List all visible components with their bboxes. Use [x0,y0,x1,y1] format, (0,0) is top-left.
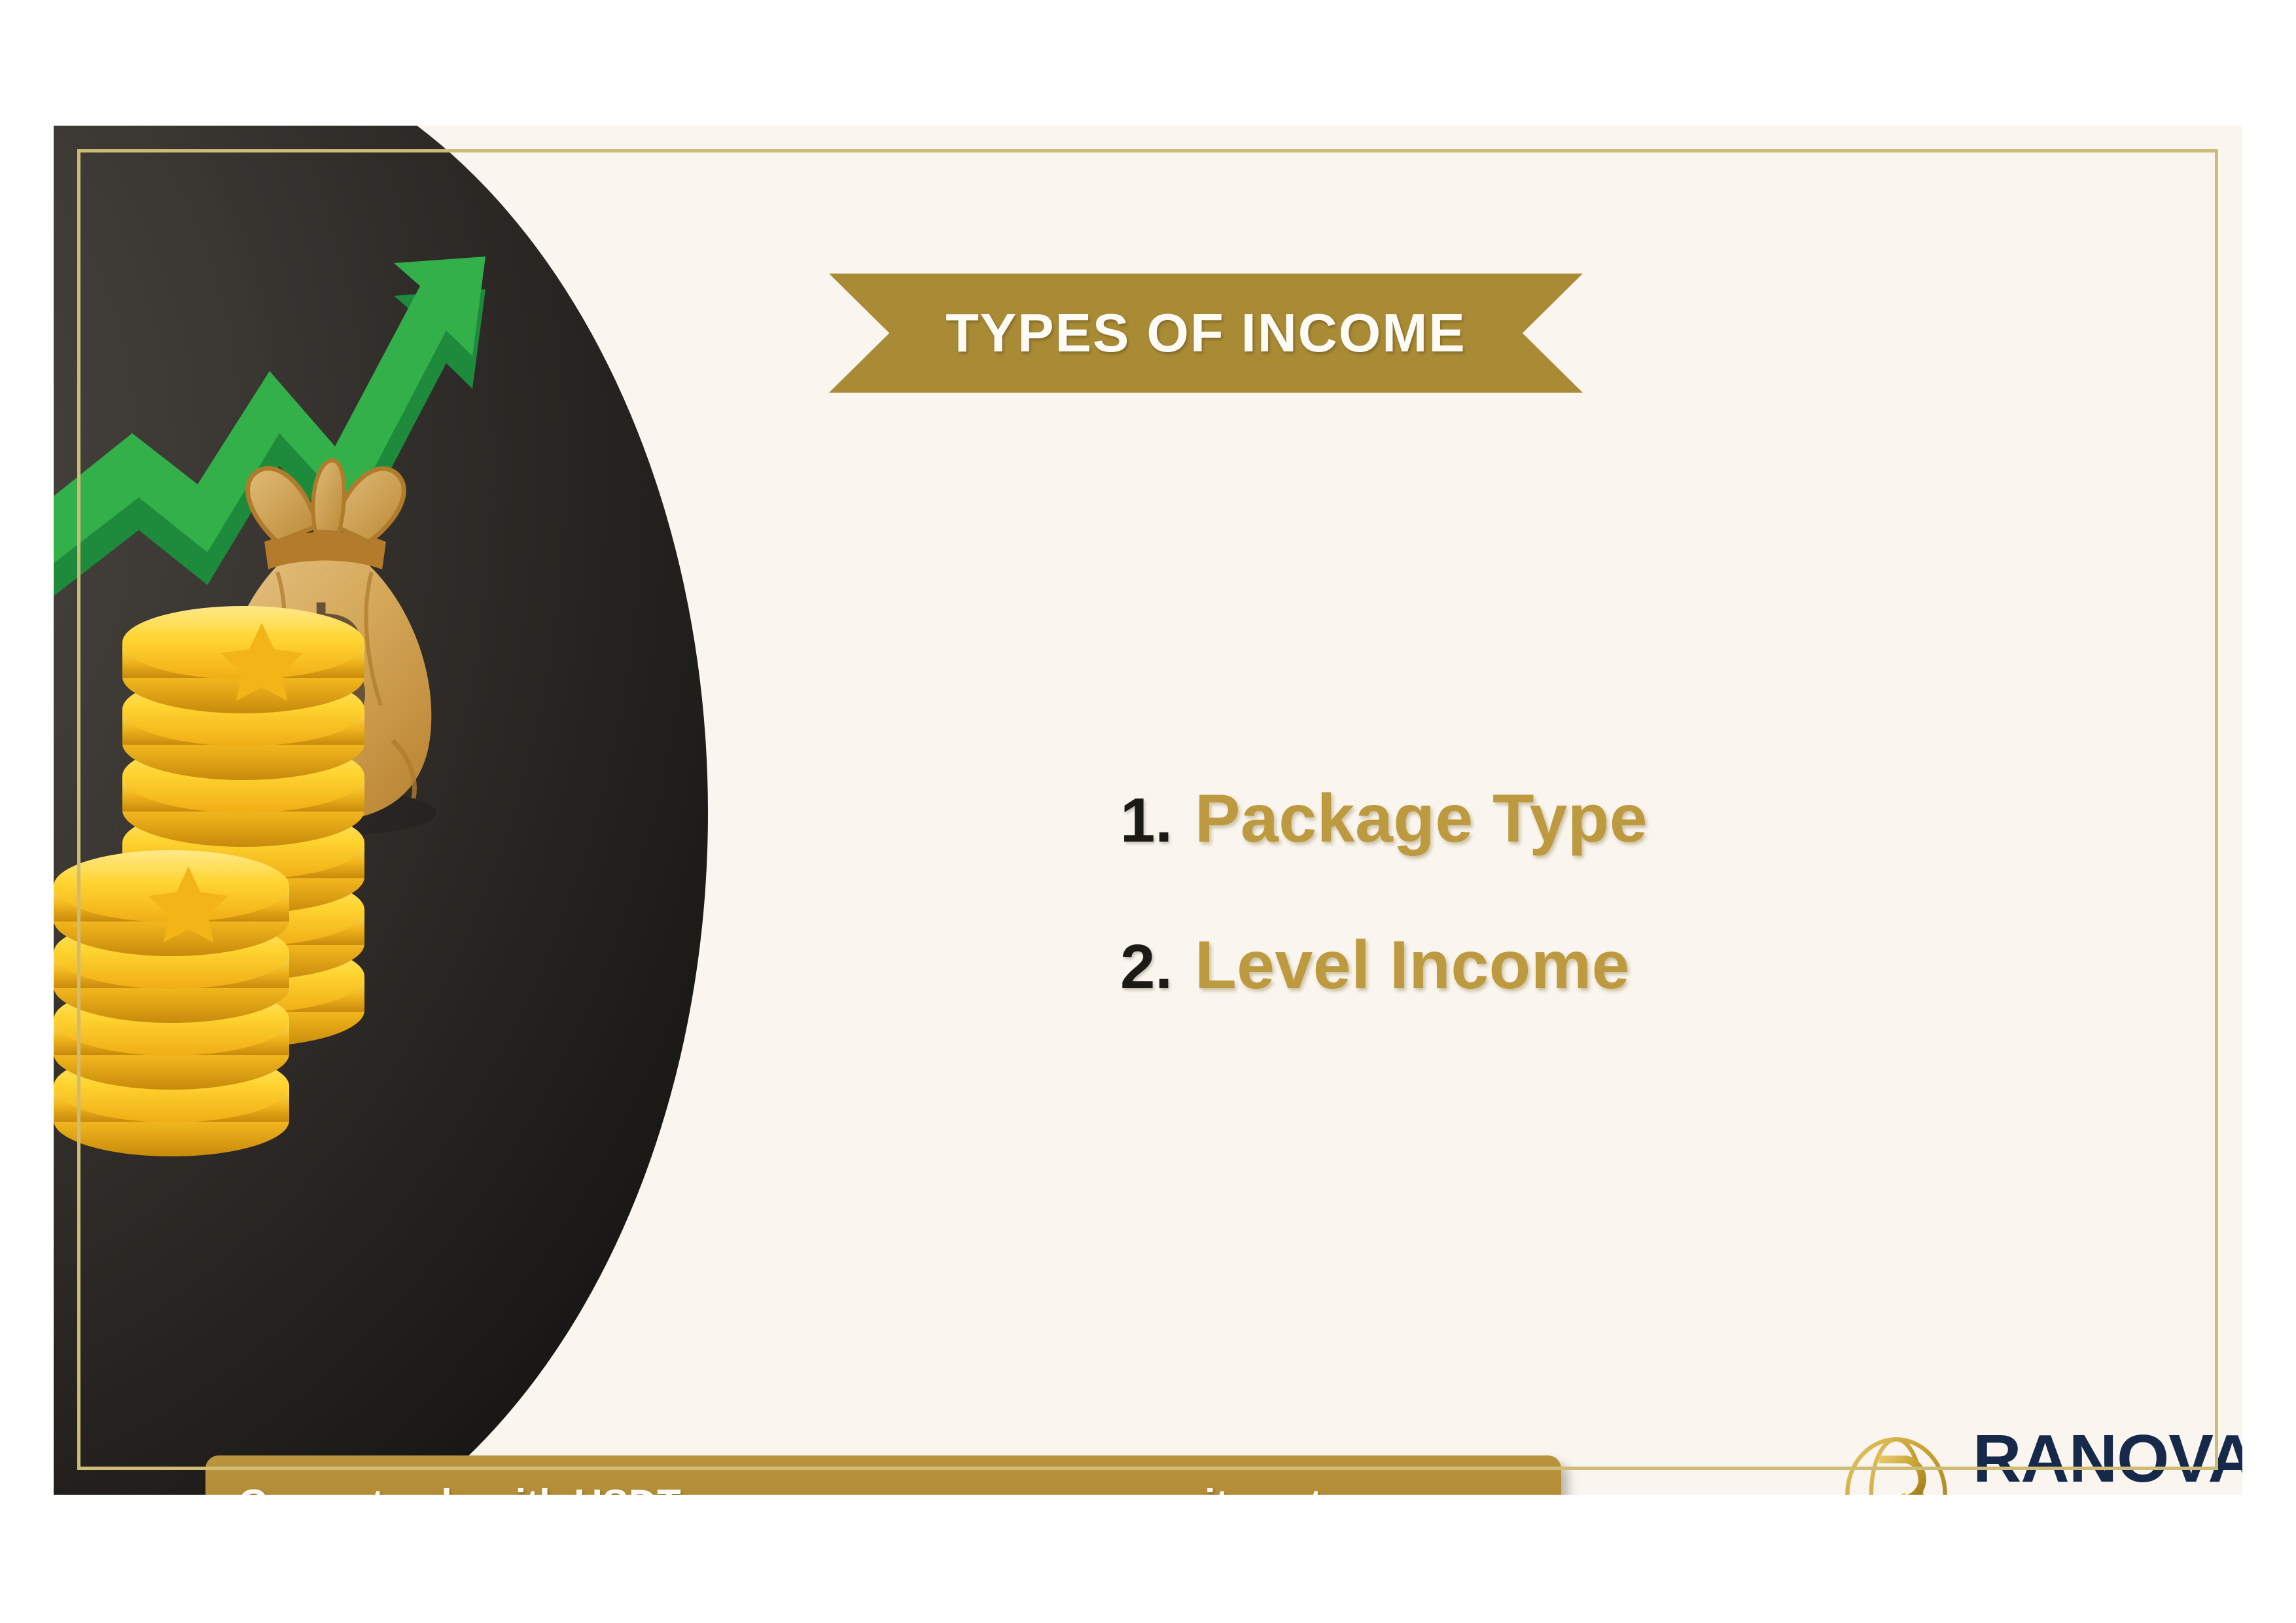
list-item: 1. Package Type [1120,780,1648,858]
gold-coin-stack-icon [54,606,364,1156]
page-title: TYPES OF INCOME [945,302,1466,365]
globe-r-monogram-icon [1837,1435,1956,1495]
list-item-number: 2. [1120,931,1173,1003]
brand-name: RANOVA [1973,1425,2242,1492]
tagline-banner: Grow steady with USDT — your success, ou… [205,1455,1561,1495]
brand-logo: RANOVA GLOBAL TRADE [1837,1425,2242,1495]
income-types-list: 1. Package Type 2. Level Income [1120,780,1648,1005]
title-ribbon: TYPES OF INCOME [829,274,1583,393]
list-item: 2. Level Income [1120,927,1648,1005]
list-item-label: Package Type [1195,780,1648,858]
income-illustration: $ [54,204,911,1382]
brand-wordmark: RANOVA GLOBAL TRADE [1973,1425,2242,1495]
list-item-label: Level Income [1195,927,1630,1005]
list-item-number: 1. [1120,785,1173,857]
slide-canvas: $ [54,126,2242,1495]
tagline-text: Grow steady with USDT — your success, ou… [238,1481,1333,1495]
